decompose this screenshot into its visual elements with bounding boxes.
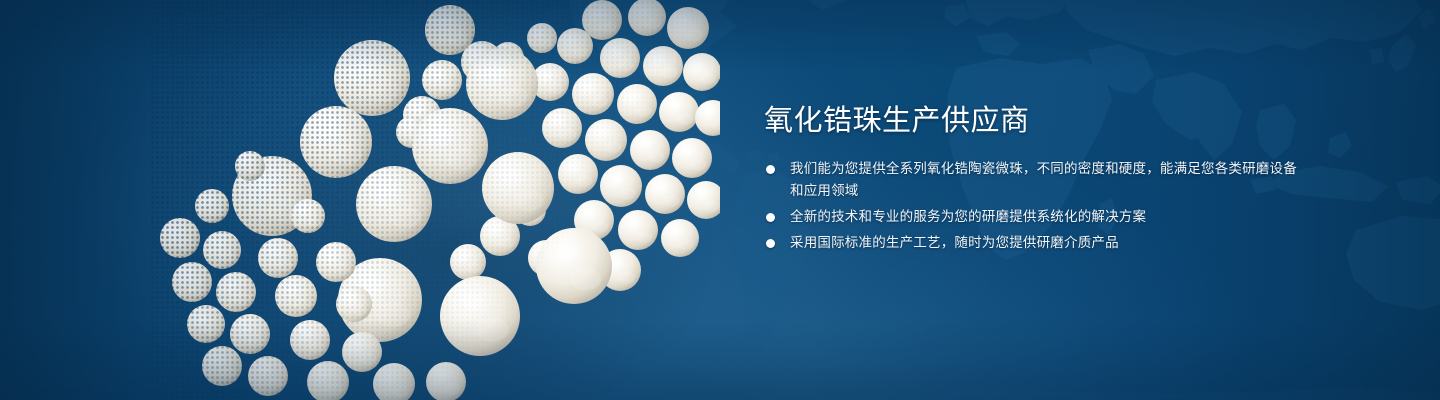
bullet-dot-icon (766, 213, 775, 222)
feature-list: 我们能为您提供全系列氧化锆陶瓷微珠，不同的密度和硬度，能满足您各类研磨设备和应用… (764, 158, 1304, 254)
bullet-dot-icon (766, 165, 775, 174)
list-item-label: 采用国际标准的生产工艺，随时为您提供研磨介质产品 (790, 232, 1304, 254)
list-item: 采用国际标准的生产工艺，随时为您提供研磨介质产品 (764, 232, 1304, 254)
banner-copy: 氧化锆珠生产供应商 我们能为您提供全系列氧化锆陶瓷微珠，不同的密度和硬度，能满足… (764, 106, 1304, 254)
list-item-label: 全新的技术和专业的服务为您的研磨提供系统化的解决方案 (790, 206, 1304, 228)
hero-banner: 氧化锆珠生产供应商 我们能为您提供全系列氧化锆陶瓷微珠，不同的密度和硬度，能满足… (0, 0, 1440, 400)
page-title: 氧化锆珠生产供应商 (764, 106, 1304, 136)
list-item: 我们能为您提供全系列氧化锆陶瓷微珠，不同的密度和硬度，能满足您各类研磨设备和应用… (764, 158, 1304, 202)
list-item-label: 我们能为您提供全系列氧化锆陶瓷微珠，不同的密度和硬度，能满足您各类研磨设备和应用… (790, 158, 1304, 202)
bullet-dot-icon (766, 239, 775, 248)
list-item: 全新的技术和专业的服务为您的研磨提供系统化的解决方案 (764, 206, 1304, 228)
